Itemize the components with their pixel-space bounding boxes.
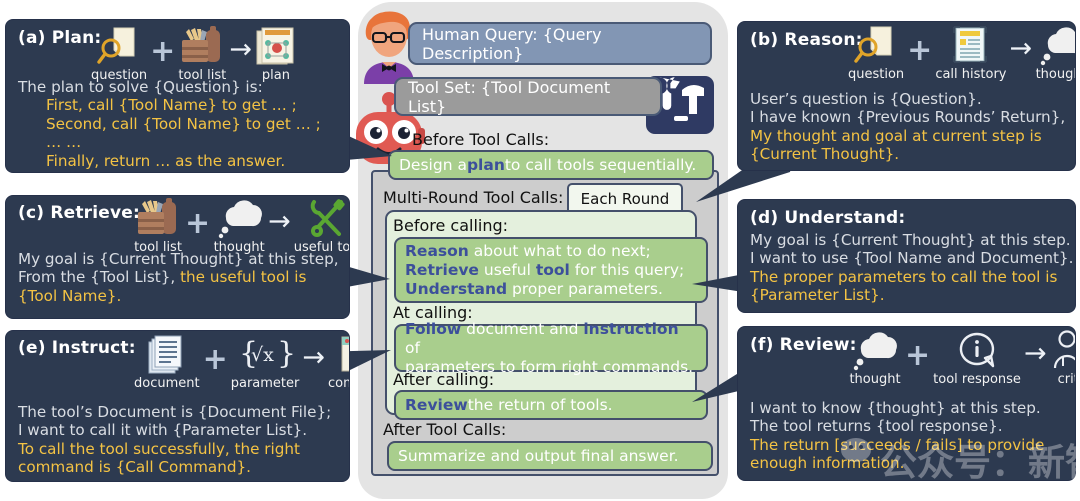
before-calling-line-1: Reason about what to do next; — [405, 242, 651, 261]
after-calling-bold: Review — [405, 396, 468, 415]
panel-retrieve: (c) Retrieve: tool list + — [6, 196, 349, 318]
svg-text:}: } — [277, 336, 296, 371]
each-round-text: Each Round — [581, 190, 670, 208]
panel-plan-body: The plan to solve {Question} is: First, … — [18, 78, 321, 170]
panel-plan: (a) Plan: question + — [6, 20, 349, 172]
panel-reason: (b) Reason: question + — [738, 22, 1075, 170]
after-calling-bar: Review the return of tools. — [394, 390, 708, 420]
human-query-text: Human Query: {Query Description} — [422, 25, 698, 63]
before-tool-calls-bar: Design a plan to call tools sequentially… — [388, 150, 714, 180]
panel-plan-title: (a) Plan: — [18, 28, 101, 48]
arrow-right-icon: → — [299, 337, 328, 379]
panel-reason-title: (b) Reason: — [750, 30, 863, 50]
btc-post: to call tools sequentially. — [505, 156, 696, 175]
plan-icon: plan — [255, 25, 297, 83]
panel-instruct-body: The tool’s Document is {Document File}; … — [18, 403, 331, 477]
call-history-icon: call history — [935, 24, 1006, 82]
arrow-right-icon: → — [1007, 28, 1036, 70]
after-calling-label: After calling: — [393, 370, 494, 389]
atc-text: Summarize and output final answer. — [398, 447, 679, 466]
arrow-right-icon: → — [265, 201, 294, 243]
thought-icon: thought — [1035, 24, 1075, 82]
tool-list-icon: tool list — [134, 197, 182, 255]
question-icon: question — [848, 24, 904, 82]
at-calling-bar: Follow document and instruction of param… — [394, 324, 708, 372]
before-calling-line-3: Understand proper parameters. — [405, 280, 663, 299]
command-icon: >_ command — [328, 333, 349, 391]
panel-instruct: (e) Instruct: document — [6, 331, 349, 481]
after-tool-calls-label: After Tool Calls: — [383, 420, 506, 439]
panel-review-body: I want to know {thought} at this step. T… — [750, 399, 1044, 473]
parameter-icon: { √x } parameter — [231, 333, 300, 391]
panel-review: (f) Review: thought + — [738, 327, 1075, 480]
retrieve-line-2: From the {Tool List}, the useful tool is — [18, 268, 339, 286]
tool-response-icon: tool response — [933, 329, 1021, 387]
multi-round-label: Multi-Round Tool Calls: — [383, 188, 563, 207]
tool-set-bubble: Tool Set: {Tool Document List} — [394, 77, 662, 116]
human-query-bubble: Human Query: {Query Description} — [408, 22, 712, 65]
before-calling-bar: Reason about what to do next; Retrieve u… — [394, 237, 708, 303]
after-tool-calls-bar: Summarize and output final answer. — [387, 441, 713, 471]
panel-reason-body: User’s question is {Question}. I have kn… — [750, 90, 1065, 164]
question-icon: question — [91, 25, 147, 83]
plus-icon: + — [147, 31, 178, 73]
arrow-right-icon: → — [226, 29, 255, 71]
at-calling-line-1: Follow document and instruction of — [405, 320, 697, 358]
tool-list-icon: tool list — [178, 25, 226, 83]
panel-reason-icons: question + — [848, 24, 1075, 82]
panel-retrieve-icons: tool list + thought → — [134, 197, 349, 255]
before-calling-line-2: Retrieve useful tool for this query; — [405, 261, 684, 280]
plus-icon: + — [200, 339, 231, 381]
thought-icon: thought — [213, 197, 265, 255]
btc-bold: plan — [467, 156, 505, 175]
arrow-right-icon: → — [1021, 333, 1050, 375]
plus-icon: + — [902, 335, 933, 377]
panel-instruct-title: (e) Instruct: — [18, 338, 136, 358]
plus-icon: + — [182, 203, 213, 245]
panel-retrieve-body: My goal is {Current Thought} at this ste… — [18, 250, 339, 305]
plus-icon: + — [904, 30, 935, 72]
watermark-logo-icon — [840, 436, 876, 468]
before-calling-label: Before calling: — [393, 216, 508, 235]
panel-review-title: (f) Review: — [750, 335, 857, 355]
useful-tool-icon: useful tool — [294, 197, 349, 255]
thought-icon: thought — [848, 329, 902, 387]
tool-set-text: Tool Set: {Tool Document List} — [408, 78, 648, 116]
after-calling-rest: the return of tools. — [468, 396, 613, 415]
critic-icon: critic — [1050, 329, 1075, 387]
panel-review-icons: thought + tool response → — [848, 329, 1075, 387]
figure-root: Human Query: {Query Description} Tool Se… — [0, 0, 1080, 501]
panel-instruct-icons: document + { √x } parameter → — [134, 333, 349, 391]
panel-understand-body: My goal is {Current Thought} at this ste… — [750, 231, 1073, 305]
panel-understand: (d) Understand: My goal is {Current Thou… — [738, 200, 1075, 312]
panel-understand-title: (d) Understand: — [750, 208, 905, 228]
svg-text:√x: √x — [251, 344, 274, 366]
panel-retrieve-title: (c) Retrieve: — [18, 203, 140, 223]
before-tool-calls-label: Before Tool Calls: — [412, 130, 549, 149]
panel-plan-icons: question + tool list → — [91, 25, 297, 83]
document-icon: document — [134, 333, 200, 391]
